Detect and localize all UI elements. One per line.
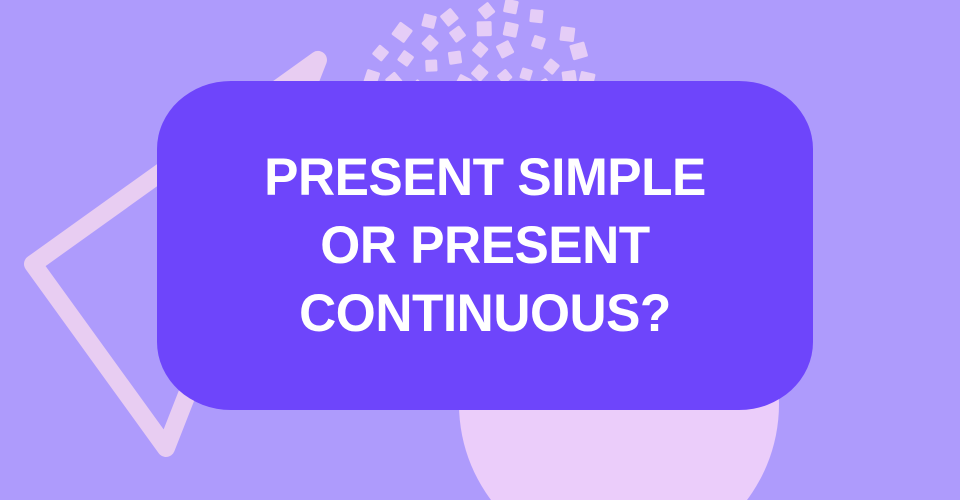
headline-line-1: PRESENT SIMPLE [192,144,778,212]
page-title: PRESENT SIMPLE OR PRESENT CONTINUOUS? [192,144,778,348]
poster-canvas: PRESENT SIMPLE OR PRESENT CONTINUOUS? [0,0,960,500]
headline-line-3: CONTINUOUS? [192,280,778,348]
confetti-square [425,59,437,71]
confetti-square [529,9,543,23]
confetti-square [448,50,462,64]
title-card: PRESENT SIMPLE OR PRESENT CONTINUOUS? [157,81,813,410]
confetti-square [559,26,575,42]
confetti-square [503,21,520,38]
confetti-square [477,21,492,36]
headline-line-2: OR PRESENT [192,212,778,280]
title-card-content: PRESENT SIMPLE OR PRESENT CONTINUOUS? [157,144,813,348]
